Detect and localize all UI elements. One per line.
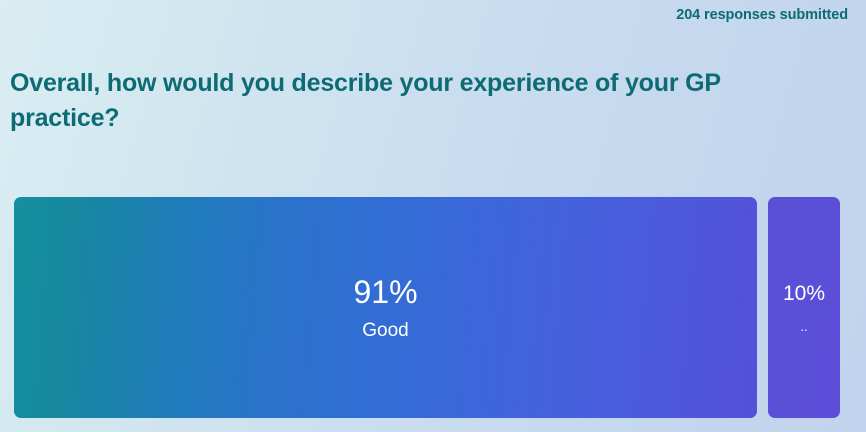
bar-segment-secondary-content: 10% .. (768, 281, 840, 335)
bar-segment-secondary-value: 10% (783, 281, 825, 306)
survey-result-panel: 204 responses submitted Overall, how wou… (0, 0, 866, 432)
responses-count-text: 204 responses submitted (676, 7, 848, 23)
bar-segment-good[interactable]: 91% Good (14, 197, 757, 418)
bar-segment-good-content: 91% Good (14, 274, 757, 342)
bar-gap (757, 197, 768, 418)
responses-summary: 204 responses submitted (0, 0, 848, 30)
question-title: Overall, how would you describe your exp… (10, 66, 770, 136)
bar-segment-secondary-label: .. (800, 319, 807, 335)
results-bar-chart: 91% Good 10% .. (14, 197, 840, 418)
bar-segment-good-value: 91% (353, 274, 417, 310)
bar-segment-secondary[interactable]: 10% .. (768, 197, 840, 418)
bar-segment-good-label: Good (362, 319, 408, 342)
